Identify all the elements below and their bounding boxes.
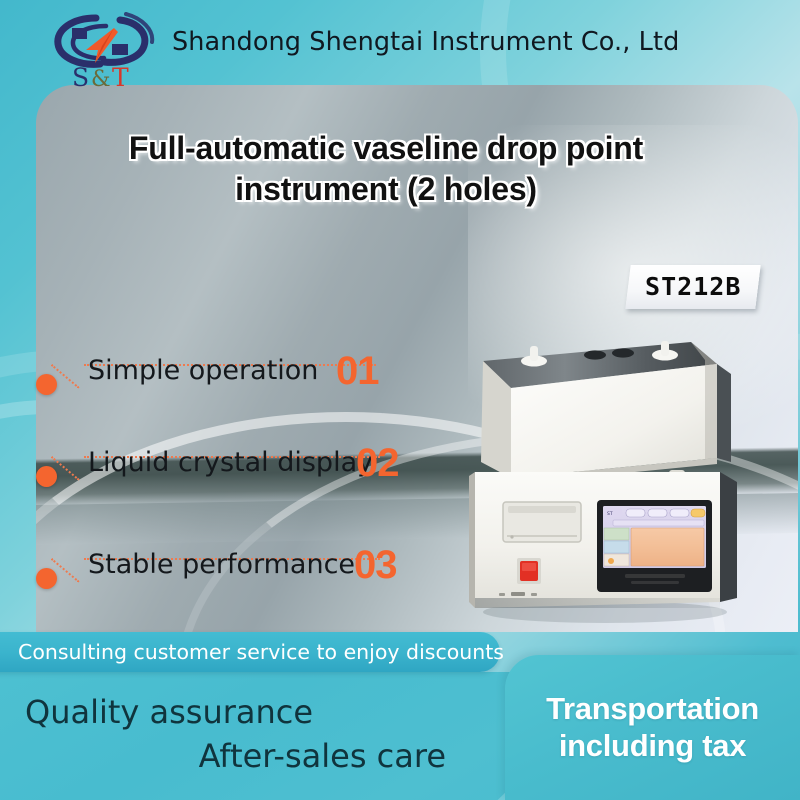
- model-badge-label: ST212B: [645, 272, 741, 301]
- feature-label-1: Simple operation: [88, 355, 318, 386]
- feature-number-2: 02: [356, 441, 399, 486]
- feature-connector-diagonal-1: [39, 364, 79, 402]
- company-name: Shandong Shengtai Instrument Co., Ltd: [172, 27, 679, 57]
- transportation-panel: Transportation including tax: [505, 655, 800, 800]
- page-title-line2: instrument (2 holes): [235, 171, 537, 207]
- feature-item-2: Liquid crystal display 02: [36, 436, 422, 492]
- feature-number-3: 03: [354, 543, 397, 588]
- quality-assurance-text: Quality assurance After-sales care: [0, 690, 470, 778]
- feature-connector-diagonal-3: [39, 558, 79, 596]
- svg-text:ST: ST: [607, 511, 613, 517]
- feature-item-3: Stable performance 03: [36, 538, 422, 594]
- svg-text:T: T: [112, 63, 129, 90]
- feature-connector-diagonal-2: [39, 456, 79, 494]
- instrument-illustration: ST: [455, 330, 755, 625]
- consulting-banner[interactable]: Consulting customer service to enjoy dis…: [0, 632, 500, 672]
- page-title: Full-automatic vaseline drop point instr…: [36, 128, 736, 210]
- quality-line-1: Quality assurance: [0, 690, 470, 734]
- feature-label-3: Stable performance: [88, 549, 355, 580]
- transport-line-2: including tax: [559, 728, 746, 764]
- consulting-banner-label: Consulting customer service to enjoy dis…: [18, 640, 504, 664]
- product-image: ST: [455, 330, 755, 625]
- quality-line-2: After-sales care: [0, 734, 470, 778]
- feature-number-1: 01: [336, 349, 379, 394]
- st-logo: S & T: [42, 6, 162, 90]
- feature-item-1: Simple operation 01: [36, 344, 406, 400]
- transport-line-1: Transportation: [546, 691, 759, 727]
- page-title-line1: Full-automatic vaseline drop point: [129, 130, 643, 166]
- page-header: S & T Shandong Shengtai Instrument Co., …: [0, 0, 800, 92]
- svg-text:&: &: [91, 67, 111, 90]
- model-badge: ST212B: [625, 265, 761, 309]
- st-logo-icon: S & T: [42, 6, 162, 90]
- svg-text:S: S: [72, 63, 89, 90]
- feature-label-2: Liquid crystal display: [88, 447, 373, 478]
